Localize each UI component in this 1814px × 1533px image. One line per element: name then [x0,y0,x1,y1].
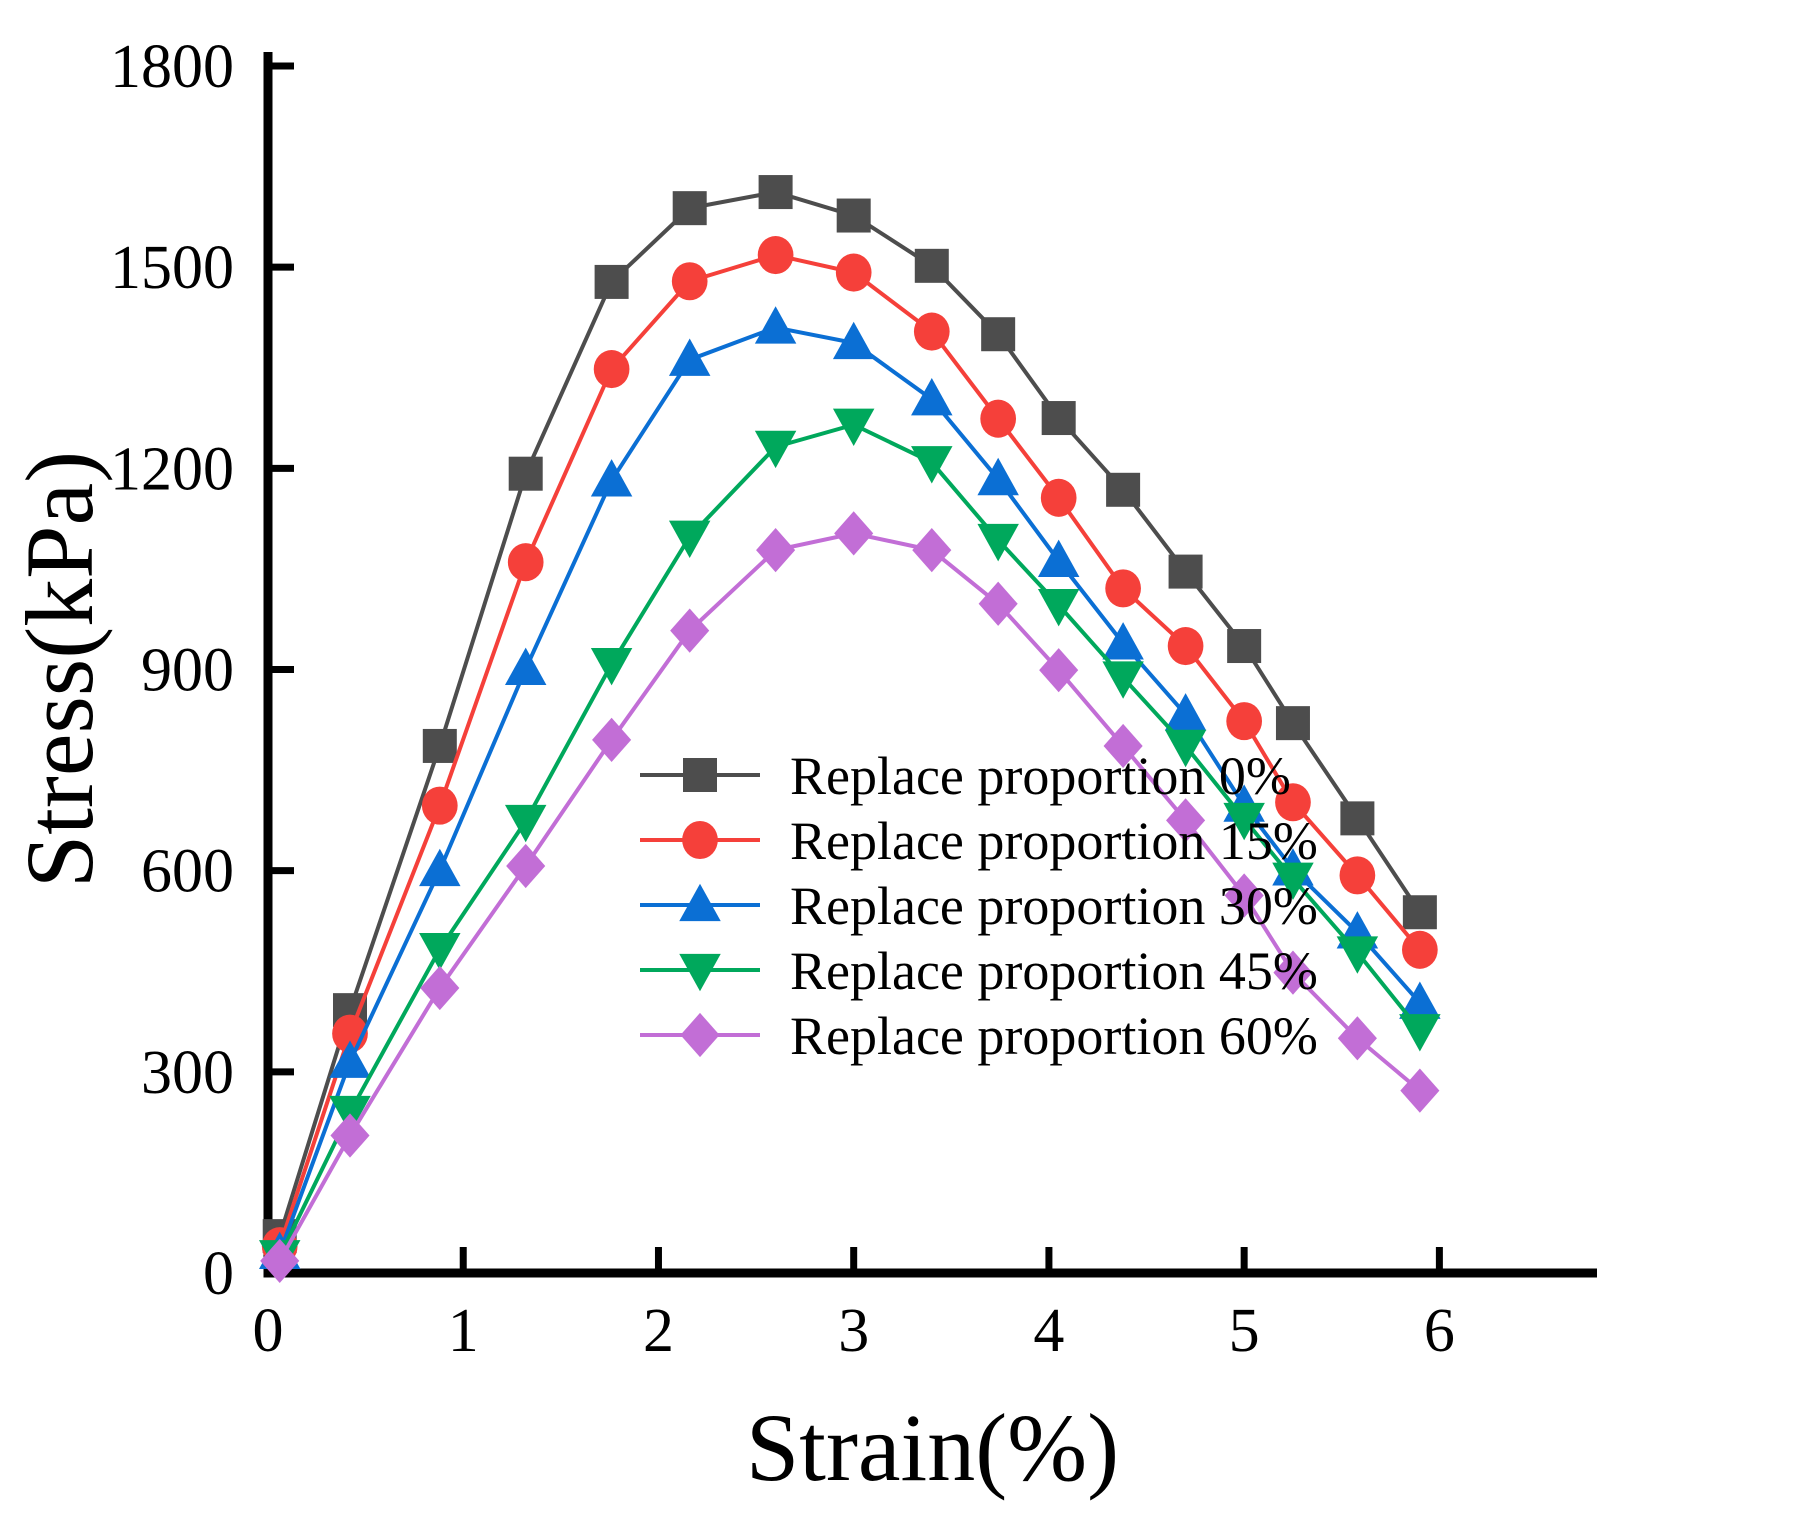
y-tick-label: 900 [141,637,234,705]
marker-triangle-down [591,648,632,685]
marker-square [1106,473,1140,507]
legend-item[interactable]: Replace proportion 30% [640,876,1318,936]
y-tick-label: 1800 [110,33,234,101]
legend-item[interactable]: Replace proportion 0% [640,746,1291,806]
x-tick-label: 3 [838,1297,869,1365]
marker-circle [1105,569,1141,607]
marker-triangle-up [911,378,952,415]
x-axis-title: Strain(%) [746,1394,1119,1501]
marker-triangle-down [1399,1014,1440,1051]
marker-circle [1226,702,1262,740]
chart-canvas: 03006009001200150018000123456Strain(%)St… [0,0,1814,1533]
marker-circle [980,400,1016,438]
y-tick-label: 300 [141,1039,234,1107]
x-tick-label: 0 [253,1297,284,1365]
marker-triangle-up [755,306,796,343]
marker-square [673,191,707,225]
legend-label: Replace proportion 30% [790,876,1318,936]
x-tick-label: 6 [1424,1297,1455,1365]
marker-triangle-up [505,648,546,685]
marker-circle [1402,931,1438,969]
marker-square [1042,401,1076,435]
marker-circle [508,543,544,581]
marker-circle [1041,479,1077,517]
marker-square [595,265,629,299]
marker-circle [1168,627,1204,665]
y-axis-title: Stress(kPa) [6,451,113,888]
marker-triangle-up [419,849,460,886]
marker-circle [1340,856,1376,894]
marker-square [1403,895,1437,929]
marker-diamond [834,511,873,555]
y-tick-label: 1200 [110,435,234,503]
marker-circle [594,350,630,388]
marker-triangle-up [591,459,632,496]
marker-square [1340,801,1374,835]
x-tick-label: 1 [448,1297,479,1365]
marker-triangle-down [679,954,720,991]
marker-triangle-up [679,884,720,921]
legend-label: Replace proportion 15% [790,811,1318,871]
marker-square [759,175,793,209]
marker-square [683,758,717,792]
legend-label: Replace proportion 0% [790,746,1291,806]
marker-diamond [912,528,951,572]
marker-circle [914,313,950,351]
marker-diamond [506,844,545,888]
marker-square [915,249,949,283]
marker-circle [422,787,458,825]
legend-item[interactable]: Replace proportion 60% [640,1006,1318,1066]
marker-circle [682,821,718,859]
marker-square [981,317,1015,351]
marker-circle [758,236,794,274]
x-tick-label: 5 [1229,1297,1260,1365]
marker-diamond [1400,1069,1439,1113]
legend-label: Replace proportion 60% [790,1006,1318,1066]
marker-circle [836,253,872,291]
marker-square [1276,706,1310,740]
marker-square [1169,555,1203,589]
marker-triangle-up [1038,540,1079,577]
legend: Replace proportion 0%Replace proportion … [640,746,1318,1066]
x-tick-label: 2 [643,1297,674,1365]
marker-triangle-up [669,338,710,375]
marker-square [837,199,871,233]
legend-item[interactable]: Replace proportion 15% [640,811,1318,871]
marker-triangle-down [505,805,546,842]
y-tick-label: 600 [141,838,234,906]
stress-strain-chart: 03006009001200150018000123456Strain(%)St… [0,0,1814,1533]
y-tick-label: 0 [203,1240,234,1308]
legend-item[interactable]: Replace proportion 45% [640,941,1318,1001]
marker-triangle-down [669,521,710,558]
marker-square [423,729,457,763]
marker-diamond [680,1013,719,1057]
marker-circle [672,262,708,300]
x-tick-label: 4 [1033,1297,1064,1365]
marker-square [1227,629,1261,663]
marker-diamond [592,718,631,762]
marker-diamond [330,1113,369,1157]
y-tick-label: 1500 [110,234,234,302]
legend-label: Replace proportion 45% [790,941,1318,1001]
marker-square [509,457,543,491]
